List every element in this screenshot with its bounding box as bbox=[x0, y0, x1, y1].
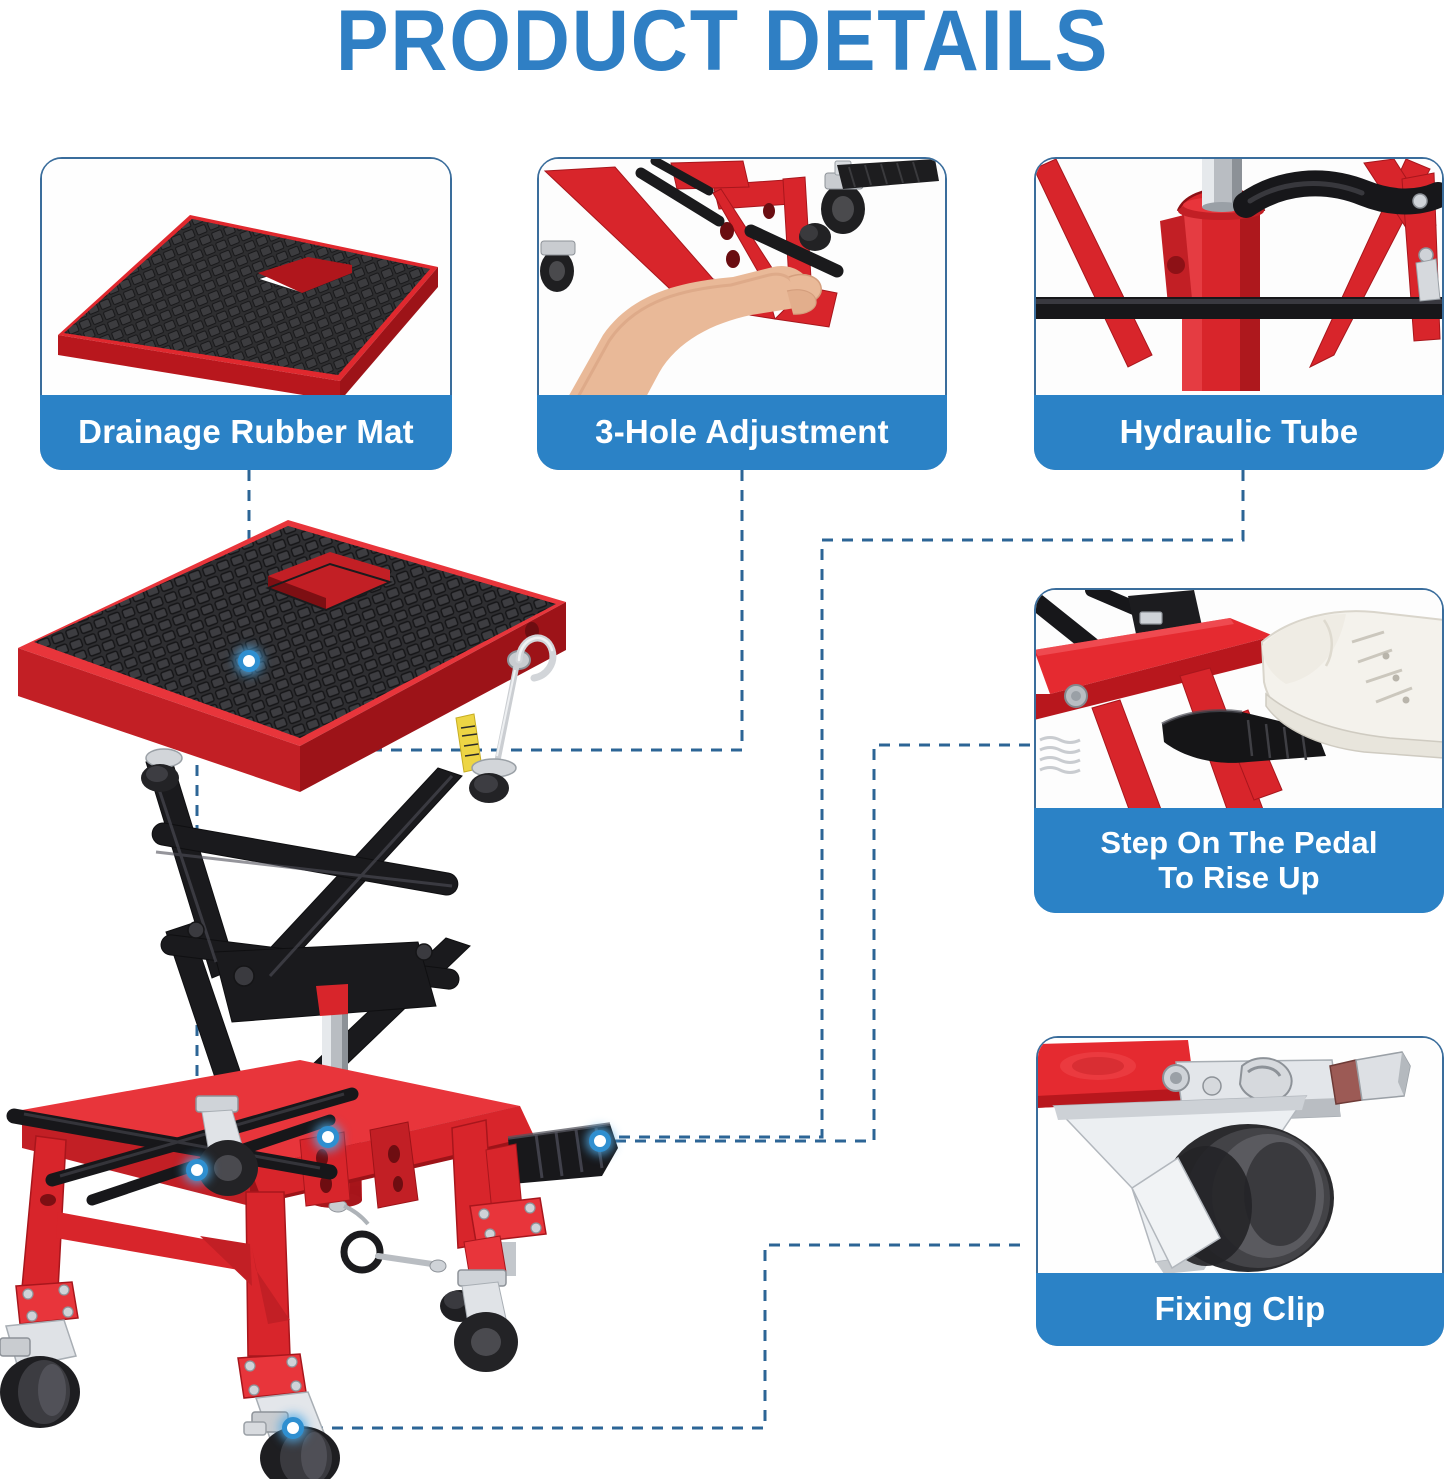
callout-label-line-1: Step On The Pedal bbox=[1100, 826, 1377, 861]
callout-photo-drainage-rubber-mat bbox=[42, 159, 450, 399]
connector-step-on-pedal bbox=[606, 745, 1030, 1141]
caster-front-left bbox=[0, 1282, 80, 1428]
callout-photo-step-on-pedal bbox=[1036, 590, 1442, 812]
callout-card-step-on-pedal[interactable]: Step On The Pedal To Rise Up bbox=[1034, 588, 1444, 913]
callout-card-drainage-rubber-mat[interactable]: Drainage Rubber Mat bbox=[40, 157, 452, 470]
hotspot-fixing-clip[interactable] bbox=[282, 1417, 304, 1439]
page-title: PRODUCT DETAILS bbox=[58, 0, 1387, 86]
callout-card-hydraulic-tube[interactable]: Hydraulic Tube bbox=[1034, 157, 1444, 470]
hotspot-step-on-pedal[interactable] bbox=[589, 1130, 611, 1152]
callout-label-line-2: To Rise Up bbox=[1158, 861, 1320, 896]
callout-label-step-on-pedal: Step On The Pedal To Rise Up bbox=[1034, 808, 1444, 913]
callout-label-fixing-clip: Fixing Clip bbox=[1036, 1273, 1444, 1346]
callout-card-fixing-clip[interactable]: Fixing Clip bbox=[1036, 1036, 1444, 1346]
callout-label-drainage-rubber-mat: Drainage Rubber Mat bbox=[40, 395, 452, 470]
hotspot-drainage-rubber-mat[interactable] bbox=[238, 650, 260, 672]
main-product-image bbox=[0, 500, 620, 1479]
callout-photo-three-hole-adjustment bbox=[539, 159, 945, 399]
hotspot-hydraulic-tube[interactable] bbox=[317, 1126, 339, 1148]
callout-label-three-hole-adjustment: 3-Hole Adjustment bbox=[537, 395, 947, 470]
hotspot-three-hole-adjustment[interactable] bbox=[186, 1159, 208, 1181]
callout-card-three-hole-adjustment[interactable]: 3-Hole Adjustment bbox=[537, 157, 947, 470]
callout-label-hydraulic-tube: Hydraulic Tube bbox=[1034, 395, 1444, 470]
callout-photo-fixing-clip bbox=[1038, 1038, 1442, 1275]
callout-photo-hydraulic-tube bbox=[1036, 159, 1442, 399]
